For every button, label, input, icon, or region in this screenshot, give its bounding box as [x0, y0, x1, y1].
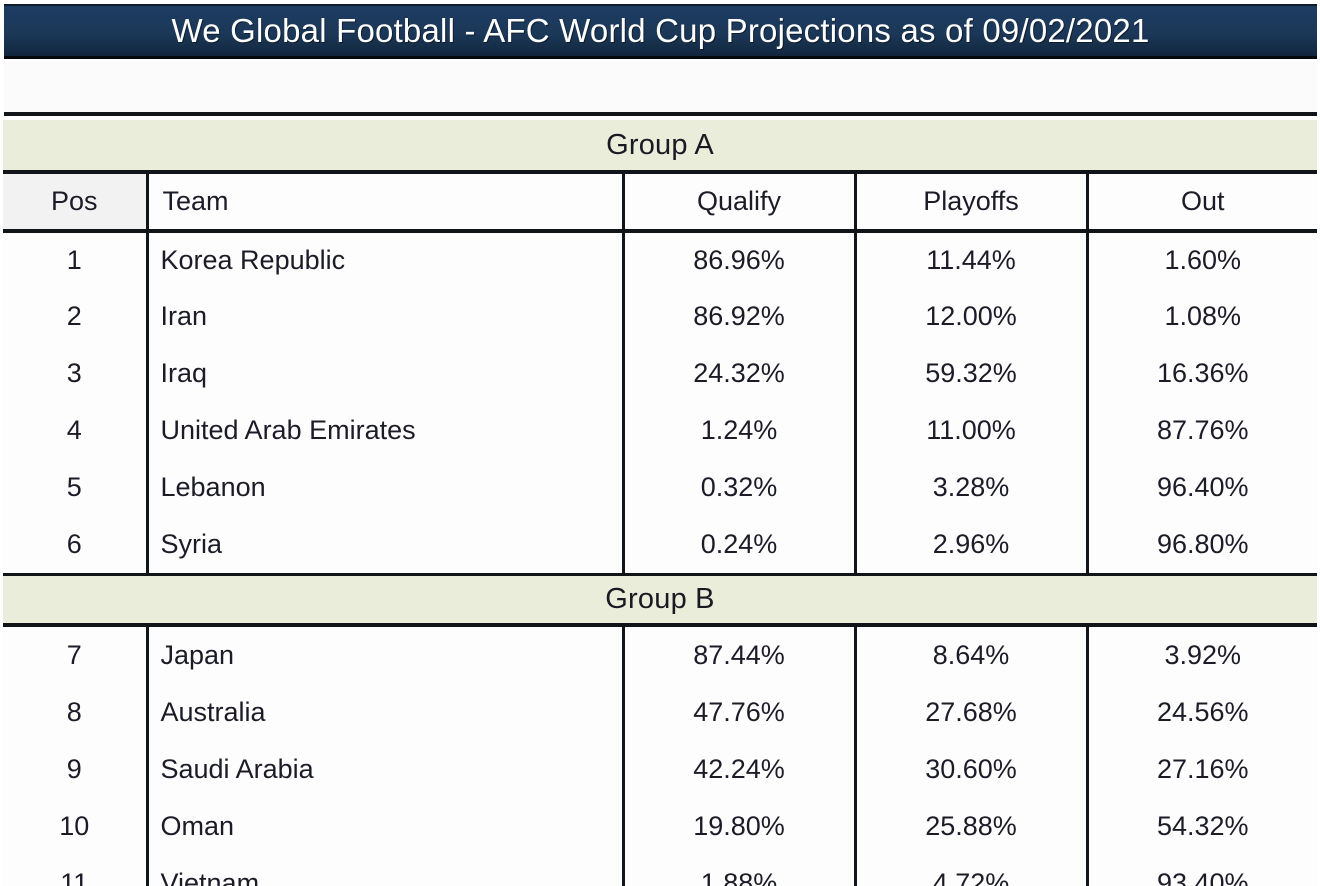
- cell-out: 1.60%: [1087, 231, 1317, 288]
- cell-playoffs: 2.96%: [855, 516, 1087, 573]
- cell-team: Japan: [147, 627, 623, 684]
- table-row: 3 Iraq 24.32% 59.32% 16.36%: [3, 345, 1317, 402]
- table-row: 7 Japan 87.44% 8.64% 3.92%: [3, 627, 1317, 684]
- cell-qualify: 1.88%: [623, 855, 855, 886]
- group-b-label: Group B: [605, 583, 714, 616]
- cell-out: 1.08%: [1087, 288, 1317, 345]
- table-row: 10 Oman 19.80% 25.88% 54.32%: [3, 798, 1317, 855]
- cell-playoffs: 30.60%: [855, 741, 1087, 798]
- title-bar: We Global Football - AFC World Cup Proje…: [4, 4, 1317, 59]
- cell-pos: 11: [3, 855, 147, 886]
- cell-team: Korea Republic: [147, 231, 623, 288]
- cell-out: 93.40%: [1087, 855, 1317, 886]
- cell-pos: 1: [3, 231, 147, 288]
- cell-qualify: 0.24%: [623, 516, 855, 573]
- cell-pos: 2: [3, 288, 147, 345]
- cell-team: Vietnam: [147, 855, 623, 886]
- cell-team: Oman: [147, 798, 623, 855]
- projections-table: Group A Pos Team Qualify Playoffs Out 1 …: [3, 120, 1317, 886]
- group-header-b: Group B: [3, 573, 1317, 627]
- column-header-pos[interactable]: Pos: [3, 174, 147, 231]
- cell-playoffs: 11.00%: [855, 402, 1087, 459]
- group-header-a: Group A: [3, 120, 1317, 174]
- table-row: 6 Syria 0.24% 2.96% 96.80%: [3, 516, 1317, 573]
- table-row: 5 Lebanon 0.32% 3.28% 96.40%: [3, 459, 1317, 516]
- cell-team: Iran: [147, 288, 623, 345]
- cell-playoffs: 12.00%: [855, 288, 1087, 345]
- column-header-row: Pos Team Qualify Playoffs Out: [3, 174, 1317, 231]
- cell-team: Lebanon: [147, 459, 623, 516]
- cell-team: United Arab Emirates: [147, 402, 623, 459]
- cell-qualify: 47.76%: [623, 684, 855, 741]
- cell-out: 16.36%: [1087, 345, 1317, 402]
- cell-pos: 4: [3, 402, 147, 459]
- column-header-playoffs[interactable]: Playoffs: [855, 174, 1087, 231]
- cell-out: 24.56%: [1087, 684, 1317, 741]
- group-a-label: Group A: [606, 129, 714, 162]
- cell-out: 87.76%: [1087, 402, 1317, 459]
- cell-pos: 3: [3, 345, 147, 402]
- cell-playoffs: 11.44%: [855, 231, 1087, 288]
- column-header-qualify[interactable]: Qualify: [623, 174, 855, 231]
- cell-qualify: 86.92%: [623, 288, 855, 345]
- group-a-table: Pos Team Qualify Playoffs Out 1 Korea Re…: [3, 174, 1317, 573]
- cell-qualify: 19.80%: [623, 798, 855, 855]
- cell-qualify: 87.44%: [623, 627, 855, 684]
- table-row: 4 United Arab Emirates 1.24% 11.00% 87.7…: [3, 402, 1317, 459]
- cell-playoffs: 27.68%: [855, 684, 1087, 741]
- cell-out: 27.16%: [1087, 741, 1317, 798]
- table-row: 9 Saudi Arabia 42.24% 30.60% 27.16%: [3, 741, 1317, 798]
- group-b-table: 7 Japan 87.44% 8.64% 3.92% 8 Australia 4…: [3, 627, 1317, 886]
- column-header-out[interactable]: Out: [1087, 174, 1317, 231]
- cell-qualify: 0.32%: [623, 459, 855, 516]
- cell-qualify: 86.96%: [623, 231, 855, 288]
- cell-team: Syria: [147, 516, 623, 573]
- cell-pos: 7: [3, 627, 147, 684]
- cell-pos: 6: [3, 516, 147, 573]
- column-header-team[interactable]: Team: [147, 174, 623, 231]
- cell-pos: 8: [3, 684, 147, 741]
- cell-pos: 5: [3, 459, 147, 516]
- cell-playoffs: 3.28%: [855, 459, 1087, 516]
- cell-playoffs: 4.72%: [855, 855, 1087, 886]
- table-row: 11 Vietnam 1.88% 4.72% 93.40%: [3, 855, 1317, 886]
- projections-page: We Global Football - AFC World Cup Proje…: [0, 0, 1320, 886]
- cell-team: Iraq: [147, 345, 623, 402]
- cell-out: 54.32%: [1087, 798, 1317, 855]
- page-title: We Global Football - AFC World Cup Proje…: [171, 12, 1149, 50]
- cell-qualify: 42.24%: [623, 741, 855, 798]
- cell-team: Australia: [147, 684, 623, 741]
- blank-spacer-row: [4, 62, 1317, 116]
- cell-out: 96.80%: [1087, 516, 1317, 573]
- cell-playoffs: 8.64%: [855, 627, 1087, 684]
- cell-out: 96.40%: [1087, 459, 1317, 516]
- cell-team: Saudi Arabia: [147, 741, 623, 798]
- cell-pos: 9: [3, 741, 147, 798]
- table-row: 2 Iran 86.92% 12.00% 1.08%: [3, 288, 1317, 345]
- table-row: 8 Australia 47.76% 27.68% 24.56%: [3, 684, 1317, 741]
- cell-qualify: 1.24%: [623, 402, 855, 459]
- table-row: 1 Korea Republic 86.96% 11.44% 1.60%: [3, 231, 1317, 288]
- cell-playoffs: 59.32%: [855, 345, 1087, 402]
- cell-playoffs: 25.88%: [855, 798, 1087, 855]
- cell-out: 3.92%: [1087, 627, 1317, 684]
- cell-pos: 10: [3, 798, 147, 855]
- cell-qualify: 24.32%: [623, 345, 855, 402]
